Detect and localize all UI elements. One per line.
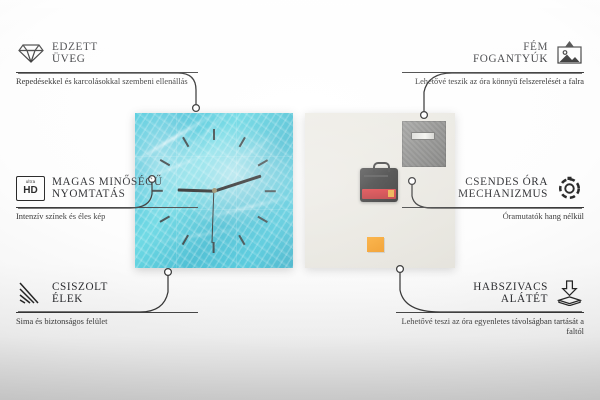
- feature-header: FÉM FOGANTYÚK: [402, 38, 584, 68]
- feature-description: Óramutatók hang nélkül: [402, 212, 584, 222]
- metal-hanger: [402, 121, 446, 167]
- picture-hanger-icon: [555, 39, 584, 68]
- divider: [16, 312, 198, 313]
- ultra-hd-icon: ultra HD: [16, 174, 45, 203]
- feature-description: Lehetővé teszik az óra könnyű felszerelé…: [402, 77, 584, 87]
- diamond-icon: [16, 39, 45, 68]
- feature-title: HABSZIVACS ALÁTÉT: [473, 281, 548, 306]
- divider: [396, 312, 584, 313]
- plaid-line: [236, 113, 237, 268]
- clock-tick: [214, 190, 268, 222]
- plaid-line: [135, 156, 293, 157]
- feature-header: ultra HD MAGAS MINŐSÉGŰ NYOMTATÁS: [16, 173, 198, 203]
- clock-center-cap: [212, 188, 217, 193]
- clock-second-hand: [212, 190, 215, 242]
- feature-title: FÉM FOGANTYÚK: [473, 41, 548, 66]
- polished-edge-icon: [16, 279, 45, 308]
- hanger-slot: [411, 132, 435, 140]
- divider: [402, 207, 584, 208]
- gear-icon: [555, 174, 584, 203]
- feature-description: Intenzív színek és éles kép: [16, 212, 198, 222]
- feather-streak: [190, 192, 293, 223]
- feature-polished-edges: CSISZOLT ÉLEK Sima és biztonságos felüle…: [16, 278, 198, 327]
- feature-title: EDZETT ÜVEG: [52, 41, 98, 66]
- feature-header: CSISZOLT ÉLEK: [16, 278, 198, 308]
- feature-header: HABSZIVACS ALÁTÉT: [396, 278, 584, 308]
- quartz-mechanism: [360, 168, 398, 202]
- hd-label: HD: [23, 186, 37, 196]
- foam-pad-icon: [555, 279, 584, 308]
- clock-minute-hand: [214, 174, 261, 192]
- feature-title: MAGAS MINŐSÉGŰ NYOMTATÁS: [52, 176, 163, 201]
- feature-title: CSISZOLT ÉLEK: [52, 281, 108, 306]
- mechanism-hook: [373, 162, 390, 172]
- infographic-canvas: EDZETT ÜVEG Repedésekkel és karcolásokka…: [0, 0, 600, 400]
- battery: [362, 189, 396, 199]
- feature-silent-mechanism: CSENDES ÓRA MECHANIZMUS Óramutatók hang …: [402, 173, 584, 222]
- foam-pad: [367, 237, 384, 252]
- feature-foam-backing: HABSZIVACS ALÁTÉT Lehetővé teszi az óra …: [396, 278, 584, 338]
- feature-description: Sima és biztonságos felület: [16, 317, 198, 327]
- mechanism-slot: [364, 175, 388, 177]
- divider: [16, 72, 198, 73]
- feather-streak: [148, 226, 251, 244]
- feature-header: CSENDES ÓRA MECHANIZMUS: [402, 173, 584, 203]
- feather-streak: [135, 113, 220, 169]
- divider: [16, 207, 198, 208]
- feature-high-quality-print: ultra HD MAGAS MINŐSÉGŰ NYOMTATÁS Intenz…: [16, 173, 198, 222]
- feature-description: Lehetővé teszi az óra egyenletes távolsá…: [396, 317, 584, 338]
- feature-header: EDZETT ÜVEG: [16, 38, 198, 68]
- clock-tick: [214, 190, 276, 192]
- divider: [402, 72, 584, 73]
- clock-tick: [213, 129, 215, 191]
- clock-tick: [213, 190, 245, 244]
- feature-description: Repedésekkel és karcolásokkal szembeni e…: [16, 77, 198, 87]
- feather-streak: [180, 113, 245, 160]
- feature-tempered-glass: EDZETT ÜVEG Repedésekkel és karcolásokka…: [16, 38, 198, 87]
- feature-metal-hangers: FÉM FOGANTYÚK Lehetővé teszik az óra kön…: [402, 38, 584, 87]
- feature-title: CSENDES ÓRA MECHANIZMUS: [458, 176, 548, 201]
- feather-streak: [218, 126, 286, 176]
